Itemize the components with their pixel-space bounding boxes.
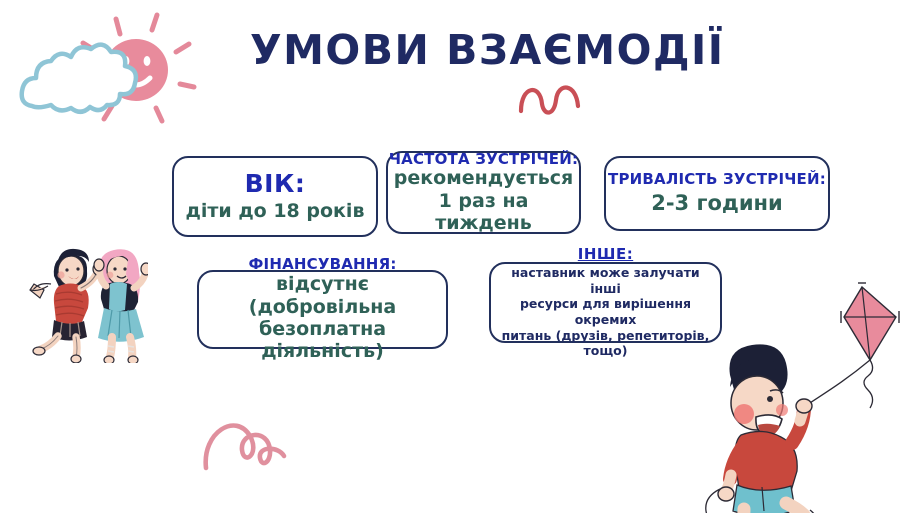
info-box-other-line-2: ресурси для вирішення окремих	[499, 296, 712, 327]
info-box-other-heading: ІНШЕ:	[578, 246, 633, 263]
info-box-funding-line-2: безоплатна діяльність)	[207, 318, 438, 363]
info-box-age-heading: ВІК:	[245, 170, 306, 198]
info-box-other-line-4: тощо)	[584, 343, 628, 359]
title-squiggle-icon	[516, 76, 586, 122]
page-title: УМОВИ ВЗАЄМОДІЇ	[250, 26, 680, 74]
info-box-duration-line-1: 2-3 години	[651, 191, 783, 216]
slide-canvas: УМОВИ ВЗАЄМОДІЇ	[0, 0, 906, 513]
info-box-age-line-1: діти до 18 років	[186, 200, 365, 222]
info-box-duration-heading: ТРИВАЛІСТЬ ЗУСТРІЧЕЙ:	[608, 171, 826, 188]
info-box-frequency-line-1: рекомендується	[394, 167, 573, 189]
info-box-funding[interactable]: ФІНАНСУВАННЯ: відсутнє (добровільна безо…	[197, 270, 448, 349]
kite-boy-illustration	[700, 275, 906, 513]
cloud-sun-illustration	[4, 8, 204, 132]
info-box-other-line-3: питань (друзів, репетиторів,	[502, 328, 710, 344]
dancing-kids-illustration	[18, 238, 148, 367]
info-box-other[interactable]: ІНШЕ: наставник може залучати інші ресур…	[489, 262, 722, 343]
info-box-frequency-heading: ЧАСТОТА ЗУСТРІЧЕЙ:	[389, 151, 578, 168]
bottom-squiggle-icon	[198, 412, 308, 478]
info-box-funding-line-1: відсутнє (добровільна	[207, 273, 438, 318]
info-box-age[interactable]: ВІК: діти до 18 років	[172, 156, 378, 237]
info-box-frequency-line-2: 1 раз на тиждень	[396, 190, 571, 235]
info-box-funding-heading: ФІНАНСУВАННЯ:	[248, 256, 396, 273]
info-box-duration[interactable]: ТРИВАЛІСТЬ ЗУСТРІЧЕЙ: 2-3 години	[604, 156, 830, 231]
info-box-other-line-1: наставник може залучати інші	[499, 265, 712, 296]
info-box-frequency[interactable]: ЧАСТОТА ЗУСТРІЧЕЙ: рекомендується 1 раз …	[386, 151, 581, 234]
